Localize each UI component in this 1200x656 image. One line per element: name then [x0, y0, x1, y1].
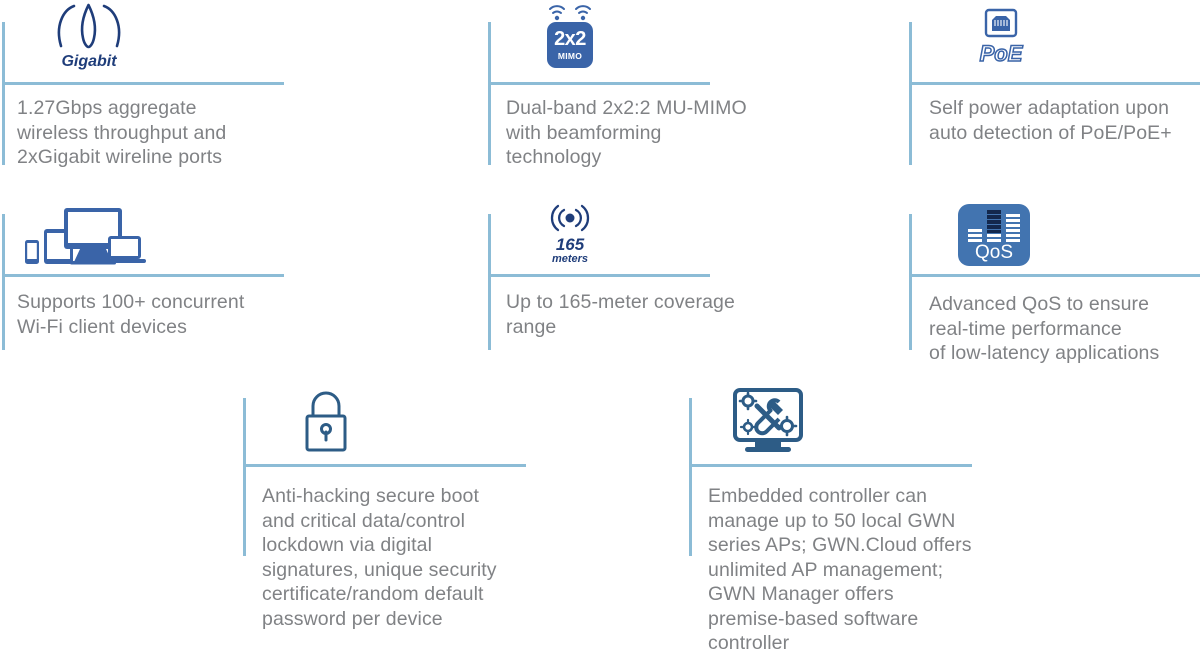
- panel-horizontal-rule: [2, 274, 284, 277]
- mimo-2x2-icon-wrap: 2x2 MIMO: [530, 0, 610, 70]
- equalizer-bars-icon: [968, 210, 1020, 246]
- multi-device-icon-wrap: [20, 192, 150, 266]
- gigabit-antenna-icon-wrap: Gigabit: [44, 0, 134, 70]
- feature-description: Self power adaptation upon auto detectio…: [929, 96, 1200, 145]
- feature-panel-controller: Embedded controller can manage up to 50 …: [689, 378, 989, 638]
- monitor-tools-icon: [727, 386, 809, 456]
- panel-vertical-rule: [2, 22, 5, 165]
- poe-icon-label: PoE: [980, 41, 1024, 66]
- panel-horizontal-rule: [909, 274, 1200, 277]
- panel-horizontal-rule: [243, 464, 526, 467]
- feature-description: Advanced QoS to ensure real-time perform…: [929, 292, 1200, 366]
- gigabit-antenna-icon: Gigabit: [47, 2, 131, 70]
- feature-panel-coverage: 165 meters Up to 165-meter coverage rang…: [488, 192, 908, 372]
- feature-description: Supports 100+ concurrent Wi-Fi client de…: [17, 290, 317, 339]
- feature-description: 1.27Gbps aggregate wireless throughput a…: [17, 96, 317, 170]
- panel-horizontal-rule: [909, 82, 1200, 85]
- panel-horizontal-rule: [2, 82, 284, 85]
- panel-horizontal-rule: [488, 274, 710, 277]
- qos-badge-label: QoS: [958, 242, 1030, 264]
- panel-horizontal-rule: [488, 82, 710, 85]
- padlock-icon-wrap: [291, 378, 361, 456]
- feature-panel-clients: Supports 100+ concurrent Wi-Fi client de…: [2, 192, 472, 372]
- mimo-badge: 2x2 MIMO: [547, 22, 593, 68]
- multi-device-icon: [23, 204, 147, 266]
- wifi-signal-pair-icon: [546, 2, 594, 22]
- monitor-tools-icon-wrap: [723, 378, 813, 456]
- gigabit-icon-label: Gigabit: [61, 53, 117, 70]
- poe-port-icon: PoE: [970, 4, 1032, 70]
- poe-port-icon-wrap: PoE: [961, 0, 1041, 70]
- feature-description: Up to 165-meter coverage range: [506, 290, 796, 339]
- feature-description: Embedded controller can manage up to 50 …: [708, 484, 998, 656]
- panel-vertical-rule: [909, 214, 912, 350]
- panel-vertical-rule: [488, 214, 491, 350]
- panel-vertical-rule: [488, 22, 491, 165]
- gigabit-leaf-shape: [82, 5, 95, 47]
- range-icon-sub-label: meters: [552, 253, 588, 265]
- mimo-badge-main-label: 2x2: [554, 29, 586, 49]
- padlock-icon: [299, 386, 353, 456]
- feature-panel-mimo: 2x2 MIMO Dual-band 2x2:2 MU-MIMO with be…: [488, 0, 908, 190]
- panel-vertical-rule: [243, 398, 246, 556]
- feature-panel-gigabit: Gigabit 1.27Gbps aggregate wireless thro…: [2, 0, 472, 190]
- wireless-range-icon: 165 meters: [539, 198, 601, 266]
- feature-description: Anti-hacking secure boot and critical da…: [262, 484, 542, 631]
- feature-description: Dual-band 2x2:2 MU-MIMO with beamforming…: [506, 96, 796, 170]
- panel-horizontal-rule: [689, 464, 972, 467]
- panel-vertical-rule: [689, 398, 692, 556]
- feature-panel-poe: PoE Self power adaptation upon auto dete…: [909, 0, 1200, 190]
- feature-panel-security: Anti-hacking secure boot and critical da…: [243, 378, 543, 638]
- range-icon-label: 165: [556, 235, 585, 254]
- feature-panel-qos: QoS Advanced QoS to ensure real-time per…: [909, 192, 1200, 372]
- wireless-range-icon-wrap: 165 meters: [530, 192, 610, 266]
- mimo-badge-sub-label: MIMO: [558, 52, 582, 61]
- feature-grid: Gigabit 1.27Gbps aggregate wireless thro…: [0, 0, 1200, 638]
- qos-equalizer-icon-wrap: QoS: [949, 192, 1039, 266]
- panel-vertical-rule: [909, 22, 912, 165]
- panel-vertical-rule: [2, 214, 5, 350]
- qos-badge: QoS: [958, 204, 1030, 266]
